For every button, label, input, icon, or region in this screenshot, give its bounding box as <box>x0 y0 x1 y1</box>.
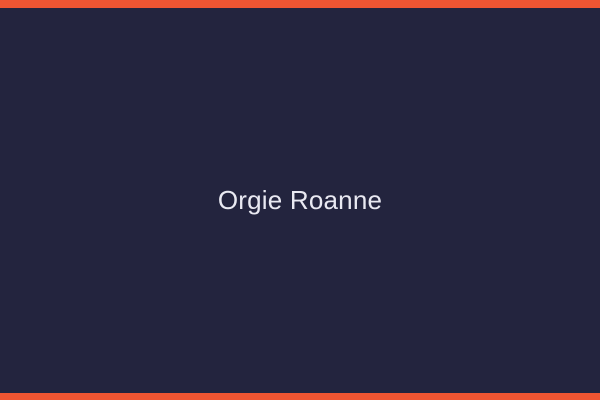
placeholder-card: Orgie Roanne <box>0 0 600 400</box>
top-accent-bar <box>0 0 600 8</box>
page-title: Orgie Roanne <box>218 185 382 216</box>
card-body: Orgie Roanne <box>0 8 600 393</box>
bottom-accent-bar <box>0 393 600 400</box>
